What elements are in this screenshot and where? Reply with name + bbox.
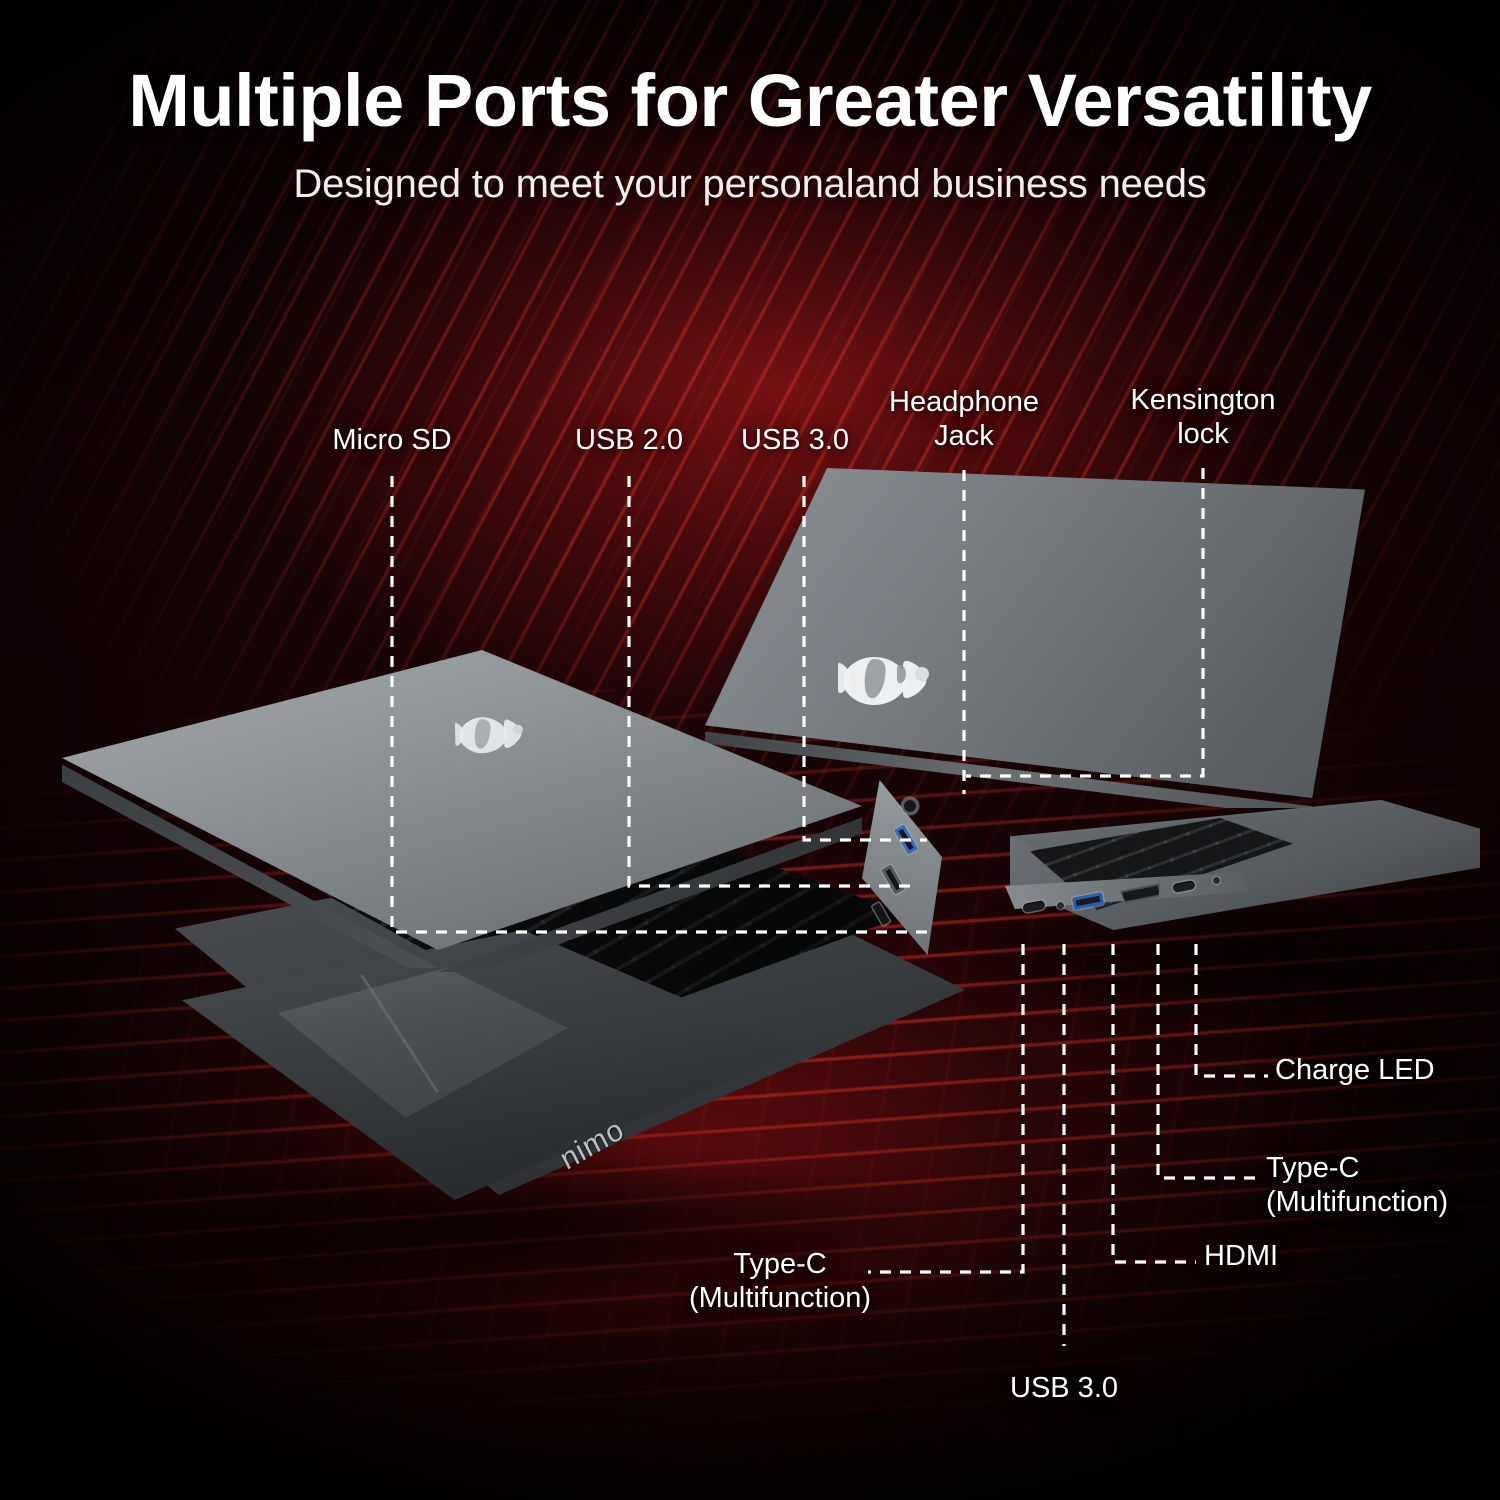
port-indicator-dot-icon bbox=[1057, 902, 1064, 909]
port-type-c-right-icon bbox=[1172, 880, 1195, 893]
header-block: Multiple Ports for Greater Versatility D… bbox=[0, 0, 1500, 207]
infographic-canvas: Multiple Ports for Greater Versatility D… bbox=[0, 0, 1500, 1500]
port-usb3-front-icon bbox=[894, 825, 918, 855]
callout-label-type-c-left: Type-C (Multifunction) bbox=[689, 1248, 871, 1315]
clownfish-logo-icon-front bbox=[455, 704, 534, 755]
callout-label-micro-sd: Micro SD bbox=[332, 424, 451, 458]
callout-label-headphone-jack: Headphone Jack bbox=[889, 386, 1039, 453]
back-laptop-port-strip bbox=[1005, 872, 1255, 932]
callout-label-hdmi: HDMI bbox=[1204, 1240, 1278, 1274]
port-usb2-icon bbox=[881, 865, 905, 895]
port-headphone-jack-icon bbox=[899, 795, 921, 817]
port-type-c-left-icon bbox=[1022, 900, 1045, 913]
port-micro-sd-icon bbox=[872, 902, 890, 925]
callout-label-kensington-lock: Kensington lock bbox=[1130, 384, 1275, 451]
clownfish-logo-icon bbox=[838, 641, 942, 707]
port-hdmi-icon bbox=[1120, 883, 1162, 903]
page-title: Multiple Ports for Greater Versatility bbox=[0, 62, 1500, 140]
charge-led-icon bbox=[1213, 877, 1220, 884]
callout-label-charge-led: Charge LED bbox=[1275, 1054, 1435, 1088]
callout-label-usb-3-0-bottom: USB 3.0 bbox=[1010, 1372, 1118, 1406]
port-usb3-icon bbox=[1072, 892, 1104, 910]
page-subtitle: Designed to meet your personaland busine… bbox=[0, 162, 1500, 207]
front-laptop-port-strip bbox=[862, 780, 952, 960]
callout-label-usb-3-0-left: USB 3.0 bbox=[741, 424, 849, 458]
callout-label-usb-2-0: USB 2.0 bbox=[575, 424, 683, 458]
callout-label-type-c-right: Type-C (Multifunction) bbox=[1266, 1152, 1448, 1219]
